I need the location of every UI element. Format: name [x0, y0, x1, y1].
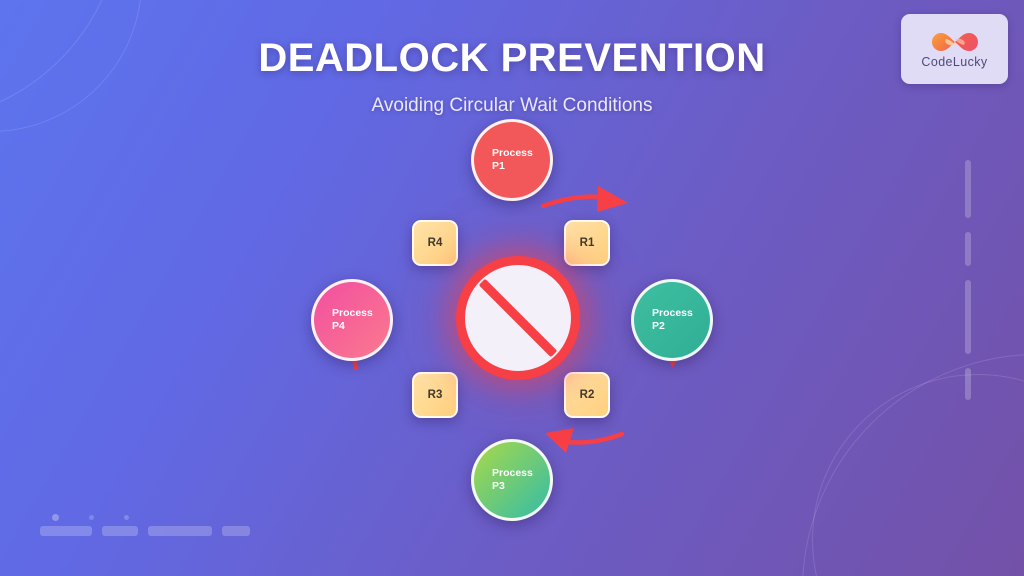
- process-node-p2[interactable]: Process P2: [631, 279, 713, 361]
- rail-segment: [965, 368, 971, 400]
- resource-node-r3[interactable]: R3: [412, 372, 458, 418]
- process-label-line1: Process: [332, 307, 390, 320]
- process-label-line2: P2: [652, 320, 710, 333]
- resource-label: R3: [428, 389, 443, 401]
- arrow-p3-to-p4: [545, 428, 622, 453]
- decorative-dots: [52, 514, 129, 521]
- process-label-line2: P1: [492, 160, 550, 173]
- rail-segment: [965, 160, 971, 218]
- rail-segment: [965, 232, 971, 266]
- slide-canvas: DEADLOCK PREVENTION Avoiding Circular Wa…: [0, 0, 1024, 576]
- resource-allocation-diagram: R4 R1 R3 R2 Process P1 Process P2 Proces…: [0, 0, 1024, 576]
- process-label-line2: P4: [332, 320, 390, 333]
- placeholder-bar: [222, 526, 250, 536]
- resource-node-r4[interactable]: R4: [412, 220, 458, 266]
- rail-segment: [965, 280, 971, 354]
- placeholder-bar: [40, 526, 92, 536]
- resource-label: R2: [580, 389, 595, 401]
- resource-label: R4: [428, 237, 443, 249]
- prohibition-sign-icon: [456, 256, 580, 380]
- prohibition-slash: [479, 279, 557, 357]
- placeholder-dot: [52, 514, 59, 521]
- placeholder-bar: [148, 526, 212, 536]
- resource-label: R1: [580, 237, 595, 249]
- resource-node-r2[interactable]: R2: [564, 372, 610, 418]
- decorative-rail: [965, 160, 971, 400]
- decorative-bars: [40, 526, 250, 536]
- resource-node-r1[interactable]: R1: [564, 220, 610, 266]
- process-node-p1[interactable]: Process P1: [471, 119, 553, 201]
- placeholder-dot: [124, 515, 129, 520]
- process-label-line1: Process: [652, 307, 710, 320]
- placeholder-bar: [102, 526, 138, 536]
- process-label-line1: Process: [492, 147, 550, 160]
- placeholder-dot: [89, 515, 94, 520]
- process-node-p3[interactable]: Process P3: [471, 439, 553, 521]
- process-label-line2: P3: [492, 480, 550, 493]
- process-node-p4[interactable]: Process P4: [311, 279, 393, 361]
- process-label-line1: Process: [492, 467, 550, 480]
- arrow-p1-to-p2: [543, 186, 628, 212]
